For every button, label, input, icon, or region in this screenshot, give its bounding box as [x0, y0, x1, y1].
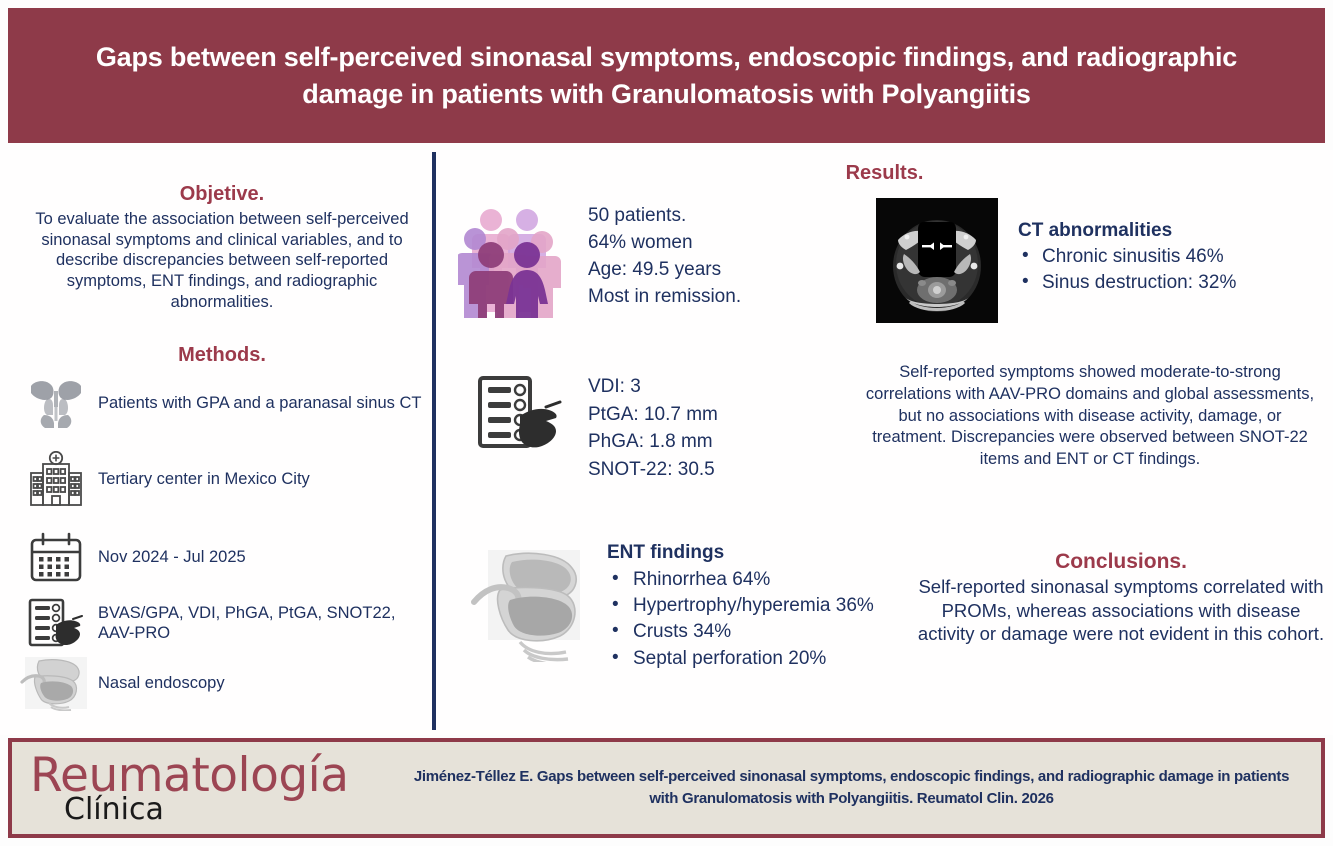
conclusions-body: Self-reported sinonasal symptoms correla… — [916, 575, 1326, 646]
title-banner: Gaps between self-perceived sinonasal sy… — [8, 8, 1325, 143]
method-item-center: Tertiary center in Mexico City — [14, 451, 430, 507]
patients-line: 50 patients. — [588, 202, 741, 229]
method-item-label: Patients with GPA and a paranasal sinus … — [98, 393, 421, 413]
ent-text-group: ENT findings Rhinorrhea 64% Hypertrophy/… — [607, 542, 874, 672]
journal-name-secondary: Clínica — [64, 792, 164, 827]
disease-scores-block: VDI: 3 PtGA: 10.7 mm PhGA: 1.8 mm SNOT-2… — [474, 372, 718, 483]
ct-abnormalities-title: CT abnormalities — [1018, 220, 1236, 242]
body-area: Objetive. To evaluate the association be… — [0, 150, 1333, 735]
clipboard-checklist-hand-icon — [474, 372, 566, 456]
method-item-sinus-ct: Patients with GPA and a paranasal sinus … — [14, 375, 430, 431]
method-item-endoscopy: Nasal endoscopy — [14, 655, 430, 711]
ct-abnormalities-block: CT abnormalities Chronic sinusitis 46% S… — [876, 198, 1236, 323]
conclusions-heading: Conclusions. — [916, 550, 1326, 574]
method-item-instruments: BVAS/GPA, VDI, PhGA, PtGA, SNOT22, AAV-P… — [14, 595, 430, 651]
patients-summary-block: 50 patients. 64% women Age: 49.5 years M… — [458, 198, 741, 318]
ent-bullet-list: Rhinorrhea 64% Hypertrophy/hyperemia 36%… — [607, 567, 874, 672]
objetive-body: To evaluate the association between self… — [14, 206, 430, 312]
ct-scan-axial-sinus-image — [876, 198, 998, 323]
score-line: SNOT-22: 30.5 — [588, 456, 718, 484]
patients-line: 64% women — [588, 229, 741, 256]
method-item-label: Tertiary center in Mexico City — [98, 469, 310, 489]
disease-scores-text: VDI: 3 PtGA: 10.7 mm PhGA: 1.8 mm SNOT-2… — [588, 373, 718, 483]
paranasal-sinus-anatomy-icon — [14, 375, 98, 431]
left-column: Objetive. To evaluate the association be… — [14, 150, 430, 735]
results-narrative-text: Self-reported symptoms showed moderate-t… — [861, 362, 1319, 471]
ent-bullet: Septal perforation 20% — [607, 646, 874, 672]
score-line: VDI: 3 — [588, 373, 718, 401]
ent-bullet: Hypertrophy/hyperemia 36% — [607, 593, 874, 619]
footer-bar: Reumatología Clínica Jiménez-Téllez E. G… — [8, 738, 1325, 838]
citation-text: Jiménez-Téllez E. Gaps between self-perc… — [412, 742, 1321, 834]
score-line: PhGA: 1.8 mm — [588, 428, 718, 456]
score-line: PtGA: 10.7 mm — [588, 401, 718, 429]
conclusions-block: Conclusions. Self-reported sinonasal sym… — [916, 550, 1326, 646]
clipboard-checklist-hand-icon — [14, 595, 98, 651]
method-item-label: BVAS/GPA, VDI, PhGA, PtGA, SNOT22, AAV-P… — [98, 603, 430, 643]
graphical-abstract-poster: Gaps between self-perceived sinonasal sy… — [0, 0, 1333, 846]
ent-findings-block: ENT findings Rhinorrhea 64% Hypertrophy/… — [466, 542, 874, 672]
ct-text-group: CT abnormalities Chronic sinusitis 46% S… — [1018, 220, 1236, 295]
patients-summary-text: 50 patients. 64% women Age: 49.5 years M… — [588, 202, 741, 311]
ent-bullet: Crusts 34% — [607, 619, 874, 645]
ct-bullet-list: Chronic sinusitis 46% Sinus destruction:… — [1018, 244, 1236, 295]
methods-heading: Methods. — [14, 344, 430, 367]
page-title: Gaps between self-perceived sinonasal sy… — [58, 39, 1275, 112]
journal-logo: Reumatología Clínica — [12, 742, 412, 834]
ent-bullet: Rhinorrhea 64% — [607, 567, 874, 593]
people-group-icon — [458, 198, 568, 318]
nasal-endoscopy-head-profile-icon — [466, 542, 591, 662]
hospital-building-icon — [14, 451, 98, 507]
nasal-endoscopy-head-profile-icon — [14, 655, 98, 711]
method-item-label: Nasal endoscopy — [98, 673, 225, 693]
results-column: Results. — [436, 150, 1333, 735]
patients-line: Age: 49.5 years — [588, 256, 741, 283]
method-item-label: Nov 2024 - Jul 2025 — [98, 547, 246, 567]
methods-list: Patients with GPA and a paranasal sinus … — [14, 375, 430, 711]
calendar-icon — [14, 531, 98, 583]
ent-findings-title: ENT findings — [607, 542, 874, 564]
results-heading: Results. — [436, 162, 1333, 185]
patients-line: Most in remission. — [588, 283, 741, 310]
ct-bullet: Sinus destruction: 32% — [1018, 270, 1236, 296]
objetive-heading: Objetive. — [14, 183, 430, 206]
ct-bullet: Chronic sinusitis 46% — [1018, 244, 1236, 270]
method-item-period: Nov 2024 - Jul 2025 — [14, 529, 430, 585]
